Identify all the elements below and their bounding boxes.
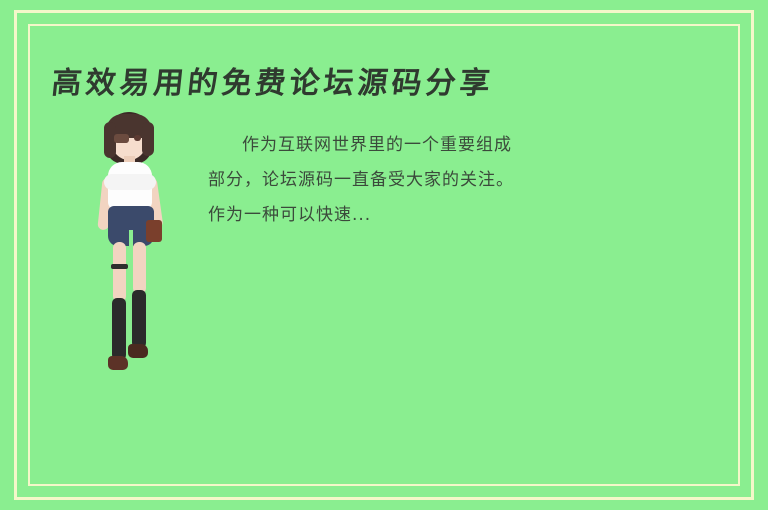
left-sock-shape: [112, 298, 126, 360]
left-leg-shape: [113, 242, 126, 302]
right-eye-shape: [134, 135, 141, 141]
right-shoe-shape: [128, 344, 148, 358]
anime-girl-illustration: [88, 112, 198, 412]
blouse-frill-shape: [104, 174, 156, 190]
article-card: 高效易用的免费论坛源码分享 作为互联网世界里的一个重要组成部分，论坛源码一直备受…: [0, 0, 768, 510]
right-leg-shape: [133, 242, 146, 294]
garter-strap-shape: [111, 264, 128, 269]
right-sock-shape: [132, 290, 146, 348]
left-eye-shape: [114, 134, 129, 143]
handbag-shape: [146, 220, 162, 242]
page-title: 高效易用的免费论坛源码分享: [50, 58, 497, 102]
article-excerpt: 作为互联网世界里的一个重要组成部分，论坛源码一直备受大家的关注。作为一种可以快速…: [208, 128, 528, 233]
hair-right-strand: [142, 122, 154, 156]
left-shoe-shape: [108, 356, 128, 370]
